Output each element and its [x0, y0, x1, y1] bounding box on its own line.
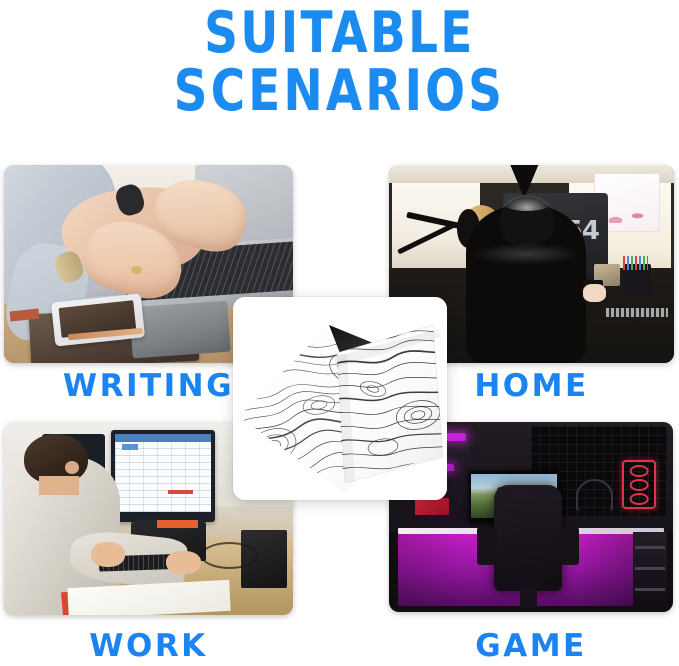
- rack-shelf-2: [635, 567, 665, 570]
- cable-coil: [201, 542, 259, 569]
- side-rack: [633, 532, 667, 608]
- hair-rim-light: [503, 195, 551, 211]
- work-monitor: [111, 430, 215, 523]
- spreadsheet-selection: [122, 444, 138, 450]
- title-line-1: SUITABLE: [61, 4, 618, 62]
- chair-armrest-left: [477, 527, 497, 565]
- title-line-2: SCENARIOS: [61, 62, 618, 120]
- pens: [623, 256, 649, 270]
- shoulder-rim-light: [475, 244, 578, 264]
- worker-left-hand: [91, 542, 126, 567]
- gaming-chair: [494, 485, 562, 591]
- spreadsheet-screen: [115, 434, 211, 512]
- rack-shelf-1: [635, 546, 665, 549]
- product-overlay-card: [233, 297, 447, 500]
- red-circle-3: [630, 493, 649, 505]
- red-circle-2: [630, 479, 649, 491]
- scenario-label-game: GAME: [389, 631, 673, 662]
- worker-ear: [65, 461, 79, 475]
- orange-box: [157, 520, 197, 528]
- scenario-label-work: WORK: [4, 631, 293, 662]
- person-wrist: [583, 284, 606, 302]
- ring: [131, 266, 141, 274]
- red-neon-sign: [622, 460, 656, 509]
- home-keyboard: [606, 308, 669, 318]
- headset-hanging: [576, 479, 613, 513]
- spreadsheet-red-row: [168, 490, 193, 494]
- rack-shelf-3: [635, 588, 665, 591]
- smartphone: [51, 293, 145, 346]
- spreadsheet-header-bar: [115, 434, 211, 442]
- red-accessory-box: [415, 498, 449, 515]
- page-title: SUITABLE SCENARIOS: [0, 0, 679, 150]
- grey-notebook: [129, 300, 231, 358]
- chair-armrest-right: [559, 527, 579, 565]
- worker-right-hand: [166, 551, 201, 574]
- worker-neck: [39, 476, 79, 495]
- red-circle-1: [630, 465, 649, 477]
- chair-base: [520, 585, 537, 608]
- mousepad-topographic-illustration: [233, 297, 447, 500]
